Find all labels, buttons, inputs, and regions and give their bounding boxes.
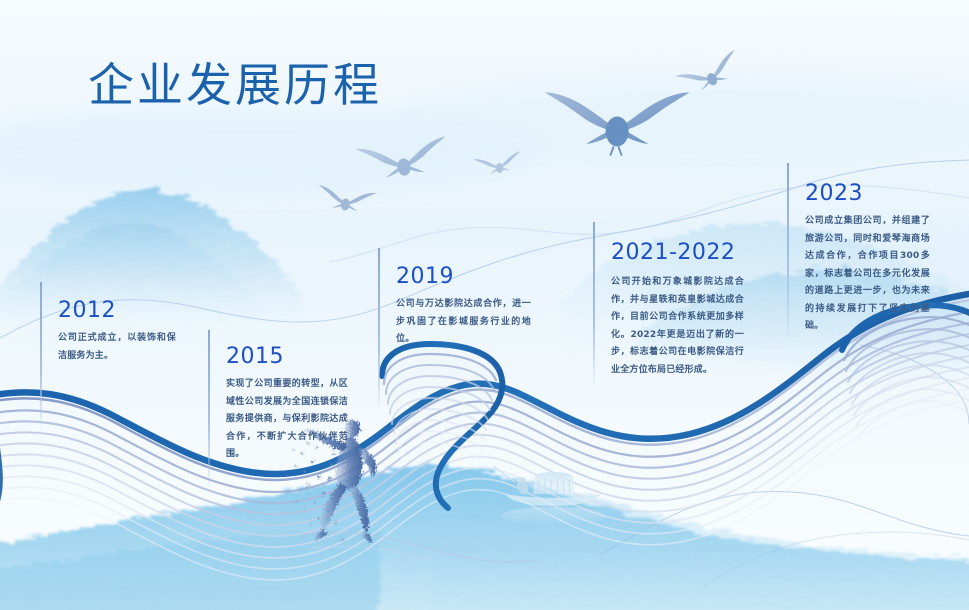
fishing-boat-icon [493,466,605,525]
milestone-description: 实现了公司重要的转型，从区域性公司发展为全国连锁保洁服务提供商，与保利影院达成合… [226,376,348,464]
milestone-year: 2012 [58,298,116,323]
milestone-description: 公司开始和万象城影院达成合作，并与星轶和英皇影城达成合作，目前公司合作系统更加多… [611,274,744,379]
bird-icon [474,151,524,177]
bird-icon [545,92,690,155]
bird-icon [356,136,450,181]
bird-icon [316,185,376,214]
milestone-year: 2015 [226,344,284,369]
flag-pole [378,248,380,413]
bird-icon [675,50,745,99]
milestone-year: 2021-2022 [611,240,735,265]
flag-pole [787,163,789,341]
infographic-canvas: 企业发展历程 2012 公司正式成立，以装饰和保洁服务为主。 2015 实现了公… [0,0,969,610]
page-title: 企业发展历程 [88,62,382,108]
milestone-description: 公司正式成立，以装饰和保洁服务为主。 [58,330,176,365]
milestone-description: 公司成立集团公司，并组建了旅游公司，同时和爱琴海商场达成合作，合作项目300多家… [805,213,930,336]
flag-pole [208,330,210,490]
milestone-year: 2023 [805,181,863,206]
milestone-year: 2019 [396,264,454,289]
flag-pole [40,282,42,432]
flag-pole [593,222,595,390]
milestone-description: 公司与万达影院达成合作，进一步巩固了在影城服务行业的地位。 [396,296,531,349]
